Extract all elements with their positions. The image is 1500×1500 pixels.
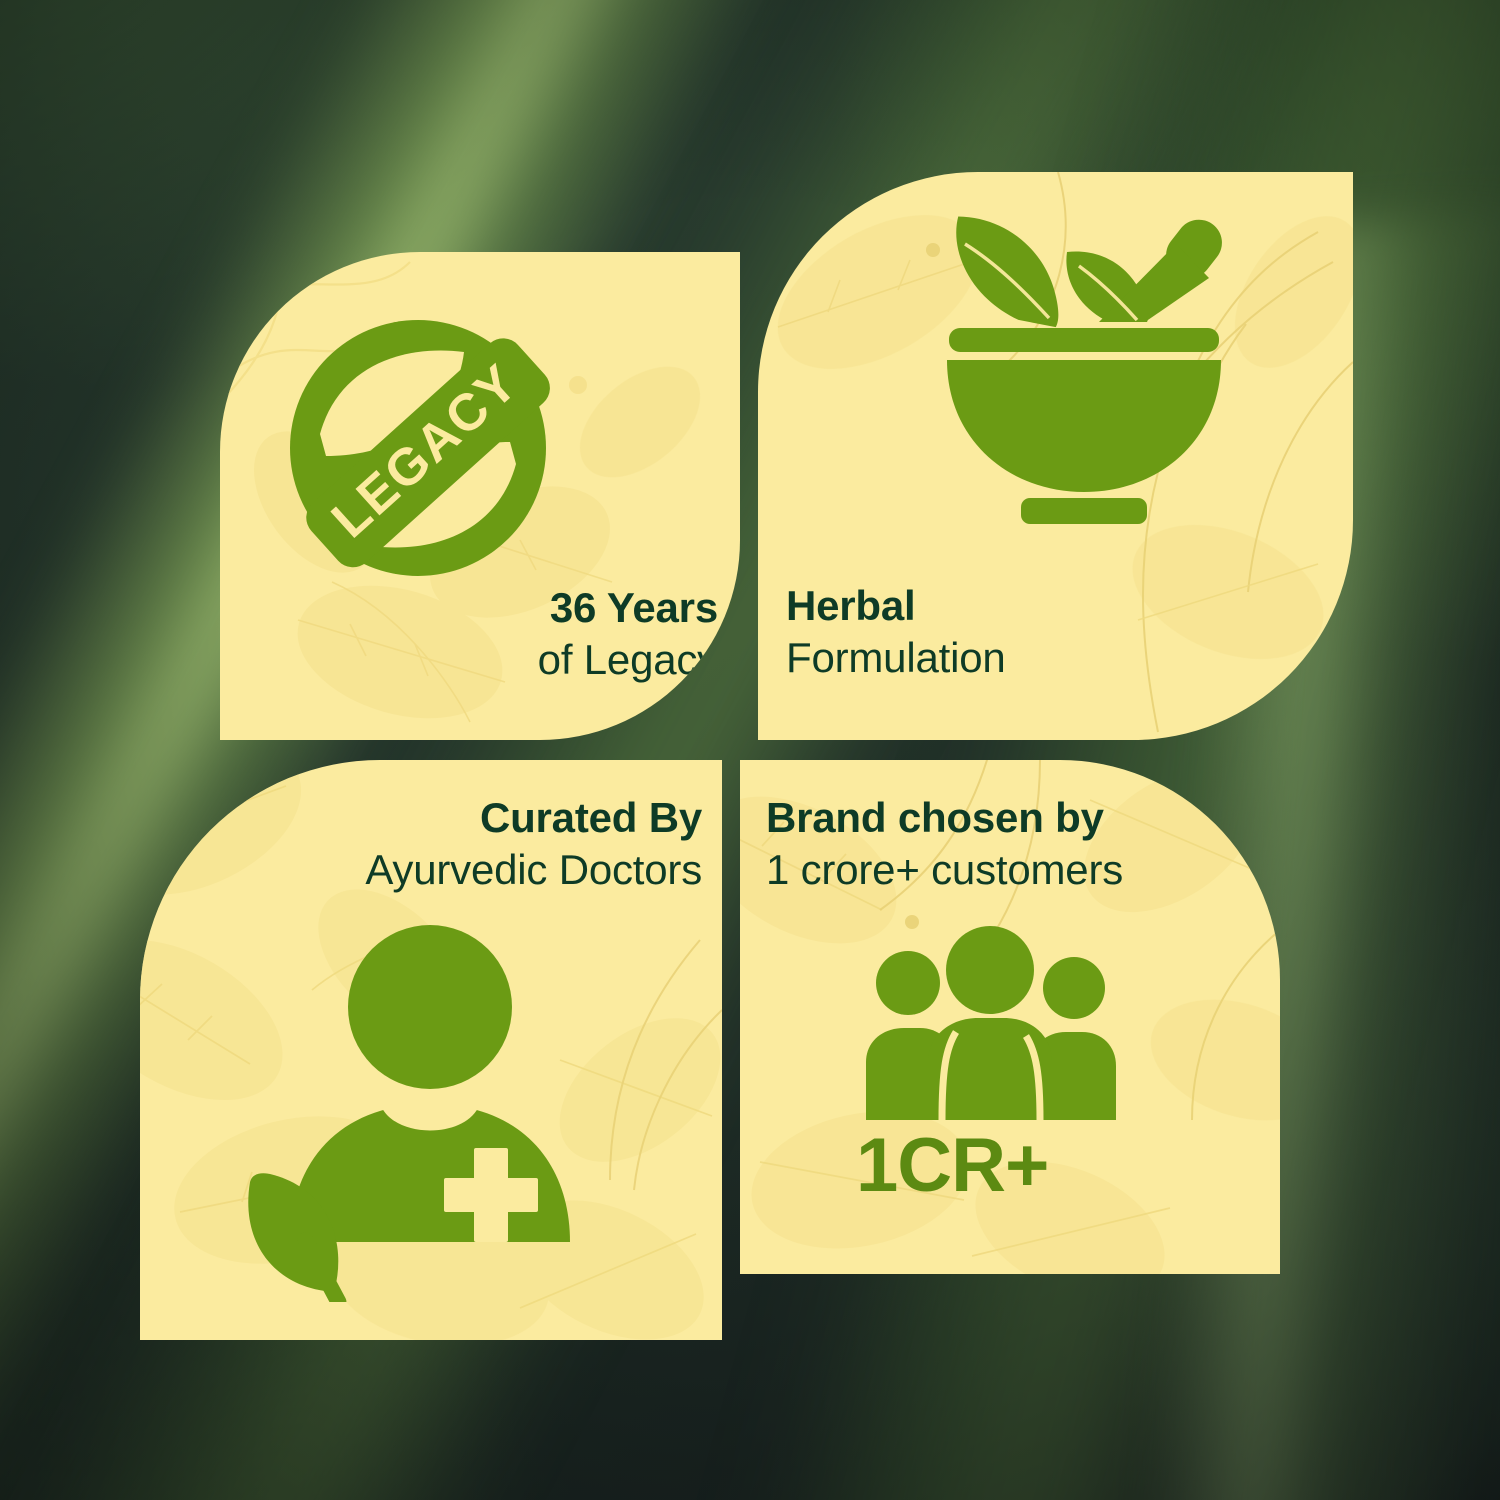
caption-herbal: Herbal Formulation xyxy=(786,584,1006,680)
caption-line2: Ayurvedic Doctors xyxy=(365,848,702,892)
caption-line1: 36 Years xyxy=(538,586,718,630)
caption-line1: Herbal xyxy=(786,584,1006,628)
caption-line2: of Legacy xyxy=(538,638,718,682)
caption-legacy: 36 Years of Legacy xyxy=(538,586,718,682)
caption-customers: Brand chosen by 1 crore+ customers xyxy=(766,796,1123,892)
feature-card-customers[interactable]: 1CR+ Brand chosen by 1 crore+ customers xyxy=(740,760,1280,1274)
caption-line1: Brand chosen by xyxy=(766,796,1123,840)
mortar-pestle-leaves-icon xyxy=(913,210,1253,530)
legacy-badge-icon: LEGACY xyxy=(268,296,578,606)
doctor-with-leaf-icon xyxy=(230,912,620,1302)
feature-card-doctors[interactable]: Curated By Ayurvedic Doctors xyxy=(140,760,722,1340)
caption-line2: 1 crore+ customers xyxy=(766,848,1123,892)
feature-card-herbal[interactable]: Herbal Formulation xyxy=(758,172,1353,740)
group-of-people-icon xyxy=(850,920,1130,1120)
feature-card-legacy[interactable]: LEGACY 36 Years of Legacy xyxy=(220,252,740,740)
feature-card-cluster: LEGACY 36 Years of Legacy xyxy=(140,172,1353,1340)
caption-line1: Curated By xyxy=(365,796,702,840)
caption-line2: Formulation xyxy=(786,636,1006,680)
customers-stat-label: 1CR+ xyxy=(856,1128,1048,1204)
caption-doctors: Curated By Ayurvedic Doctors xyxy=(365,796,702,892)
